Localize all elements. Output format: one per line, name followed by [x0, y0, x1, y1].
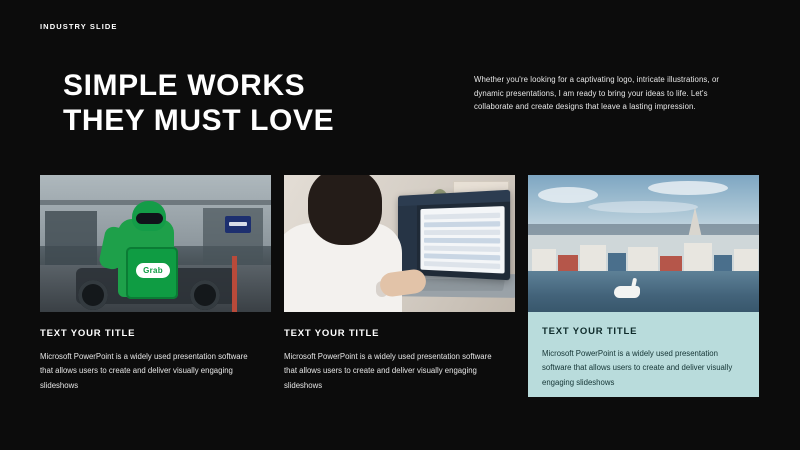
- photo-shape-post: [232, 256, 237, 312]
- laptop-user-photo: [284, 175, 515, 312]
- photo-shape-building: [684, 243, 712, 271]
- headline-line-2: THEY MUST LOVE: [63, 103, 334, 138]
- slide-kicker: INDUSTRY SLIDE: [40, 22, 118, 31]
- grab-logo: Grab: [136, 263, 170, 278]
- photo-shape-townscape: [528, 235, 759, 271]
- photo-shape-cloud: [538, 187, 598, 203]
- photo-shape-building: [628, 247, 658, 271]
- photo-shape-wheel-rear: [190, 280, 220, 310]
- photo-shape-row: [424, 253, 500, 260]
- photo-shape-swan: [614, 286, 640, 298]
- presentation-slide: INDUSTRY SLIDE SIMPLE WORKS THEY MUST LO…: [0, 0, 800, 450]
- card-text: Microsoft PowerPoint is a widely used pr…: [40, 350, 250, 393]
- card-text: Microsoft PowerPoint is a widely used pr…: [284, 350, 494, 393]
- card-body-highlighted: TEXT YOUR TITLE Microsoft PowerPoint is …: [528, 312, 759, 397]
- photo-shape-row: [424, 261, 500, 269]
- card-title: TEXT YOUR TITLE: [542, 326, 745, 337]
- card-text: Microsoft PowerPoint is a widely used pr…: [542, 347, 742, 390]
- card-body: TEXT YOUR TITLE Microsoft PowerPoint is …: [284, 312, 515, 393]
- photo-shape-row: [424, 246, 500, 252]
- headline-line-1: SIMPLE WORKS: [63, 68, 334, 103]
- photo-shape-visor: [136, 213, 163, 224]
- photo-shape-water: [528, 271, 759, 312]
- list-item: TEXT YOUR TITLE Microsoft PowerPoint is …: [284, 175, 515, 397]
- card-body: TEXT YOUR TITLE Microsoft PowerPoint is …: [40, 312, 271, 393]
- photo-shape-wheel-front: [78, 280, 108, 310]
- photo-shape-building: [580, 245, 606, 271]
- photo-shape-row: [424, 230, 500, 235]
- card-title: TEXT YOUR TITLE: [284, 328, 515, 339]
- delivery-rider-photo: Grab: [40, 175, 271, 312]
- intro-paragraph: Whether you're looking for a captivating…: [474, 73, 730, 114]
- photo-shape-building: [660, 256, 682, 271]
- photo-shape-building: [608, 253, 626, 271]
- list-item: Grab TEXT YOUR TITLE Microsoft PowerPoin…: [40, 175, 271, 397]
- photo-shape-laptop-screen: [398, 190, 510, 281]
- photo-shape-door-left: [45, 211, 97, 273]
- photo-shape-building: [734, 249, 758, 271]
- list-item: TEXT YOUR TITLE Microsoft PowerPoint is …: [528, 175, 759, 397]
- card-title: TEXT YOUR TITLE: [40, 328, 271, 339]
- photo-shape-row: [424, 221, 500, 227]
- photo-shape-row: [424, 213, 500, 220]
- photo-shape-building: [714, 255, 732, 271]
- page-title: SIMPLE WORKS THEY MUST LOVE: [63, 68, 334, 139]
- photo-shape-sign: [225, 216, 251, 233]
- waterfront-city-photo: [528, 175, 759, 312]
- photo-shape-screen-content: [420, 206, 504, 273]
- photo-shape-building: [532, 249, 556, 271]
- photo-shape-row: [424, 238, 500, 244]
- photo-shape-cloud: [648, 181, 728, 195]
- card-list: Grab TEXT YOUR TITLE Microsoft PowerPoin…: [40, 175, 760, 397]
- photo-shape-cloud: [588, 201, 698, 213]
- photo-shape-building: [558, 255, 578, 271]
- photo-shape-person-head: [308, 175, 382, 245]
